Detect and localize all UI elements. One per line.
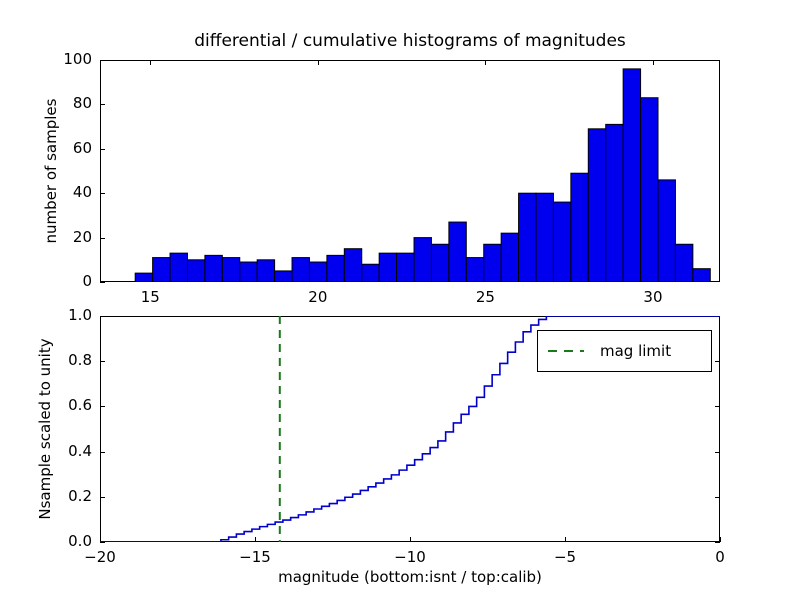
- legend[interactable]: mag limit: [537, 330, 712, 372]
- x-axis-label: magnitude (bottom:isnt / top:calib): [100, 568, 720, 586]
- legend-maglimit-label: mag limit: [600, 342, 671, 360]
- cumulative-histogram-plot: [0, 0, 800, 600]
- figure-canvas: differential / cumulative histograms of …: [0, 0, 800, 600]
- legend-maglimit-swatch: [548, 350, 584, 352]
